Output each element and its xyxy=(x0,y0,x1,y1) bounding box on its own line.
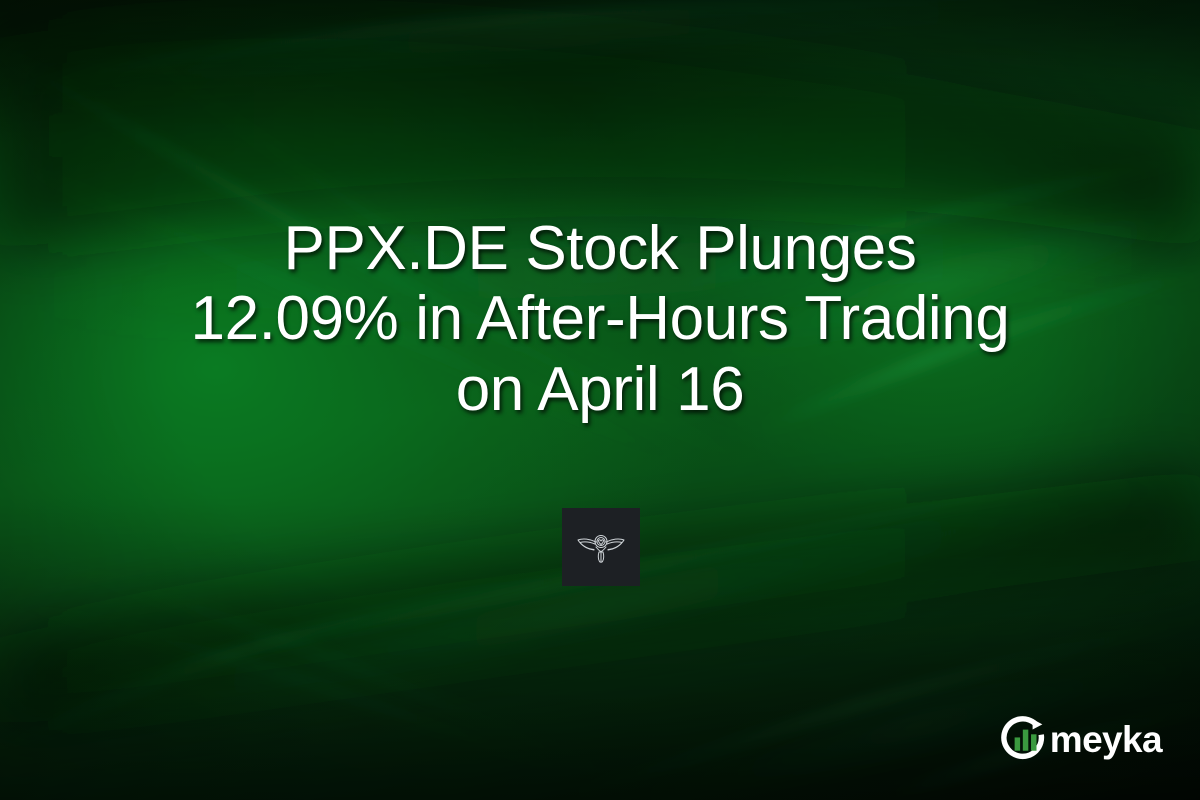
brand-name: meyka xyxy=(1050,721,1162,758)
meyka-bar-chart-ring-icon xyxy=(999,714,1049,764)
company-emblem xyxy=(562,508,640,586)
social-card: PPX.DE Stock Plunges 12.09% in After-Hou… xyxy=(0,0,1200,800)
winged-crest-icon xyxy=(574,527,628,567)
page-title: PPX.DE Stock Plunges 12.09% in After-Hou… xyxy=(0,214,1200,426)
brand-lockup: meyka xyxy=(999,714,1162,764)
